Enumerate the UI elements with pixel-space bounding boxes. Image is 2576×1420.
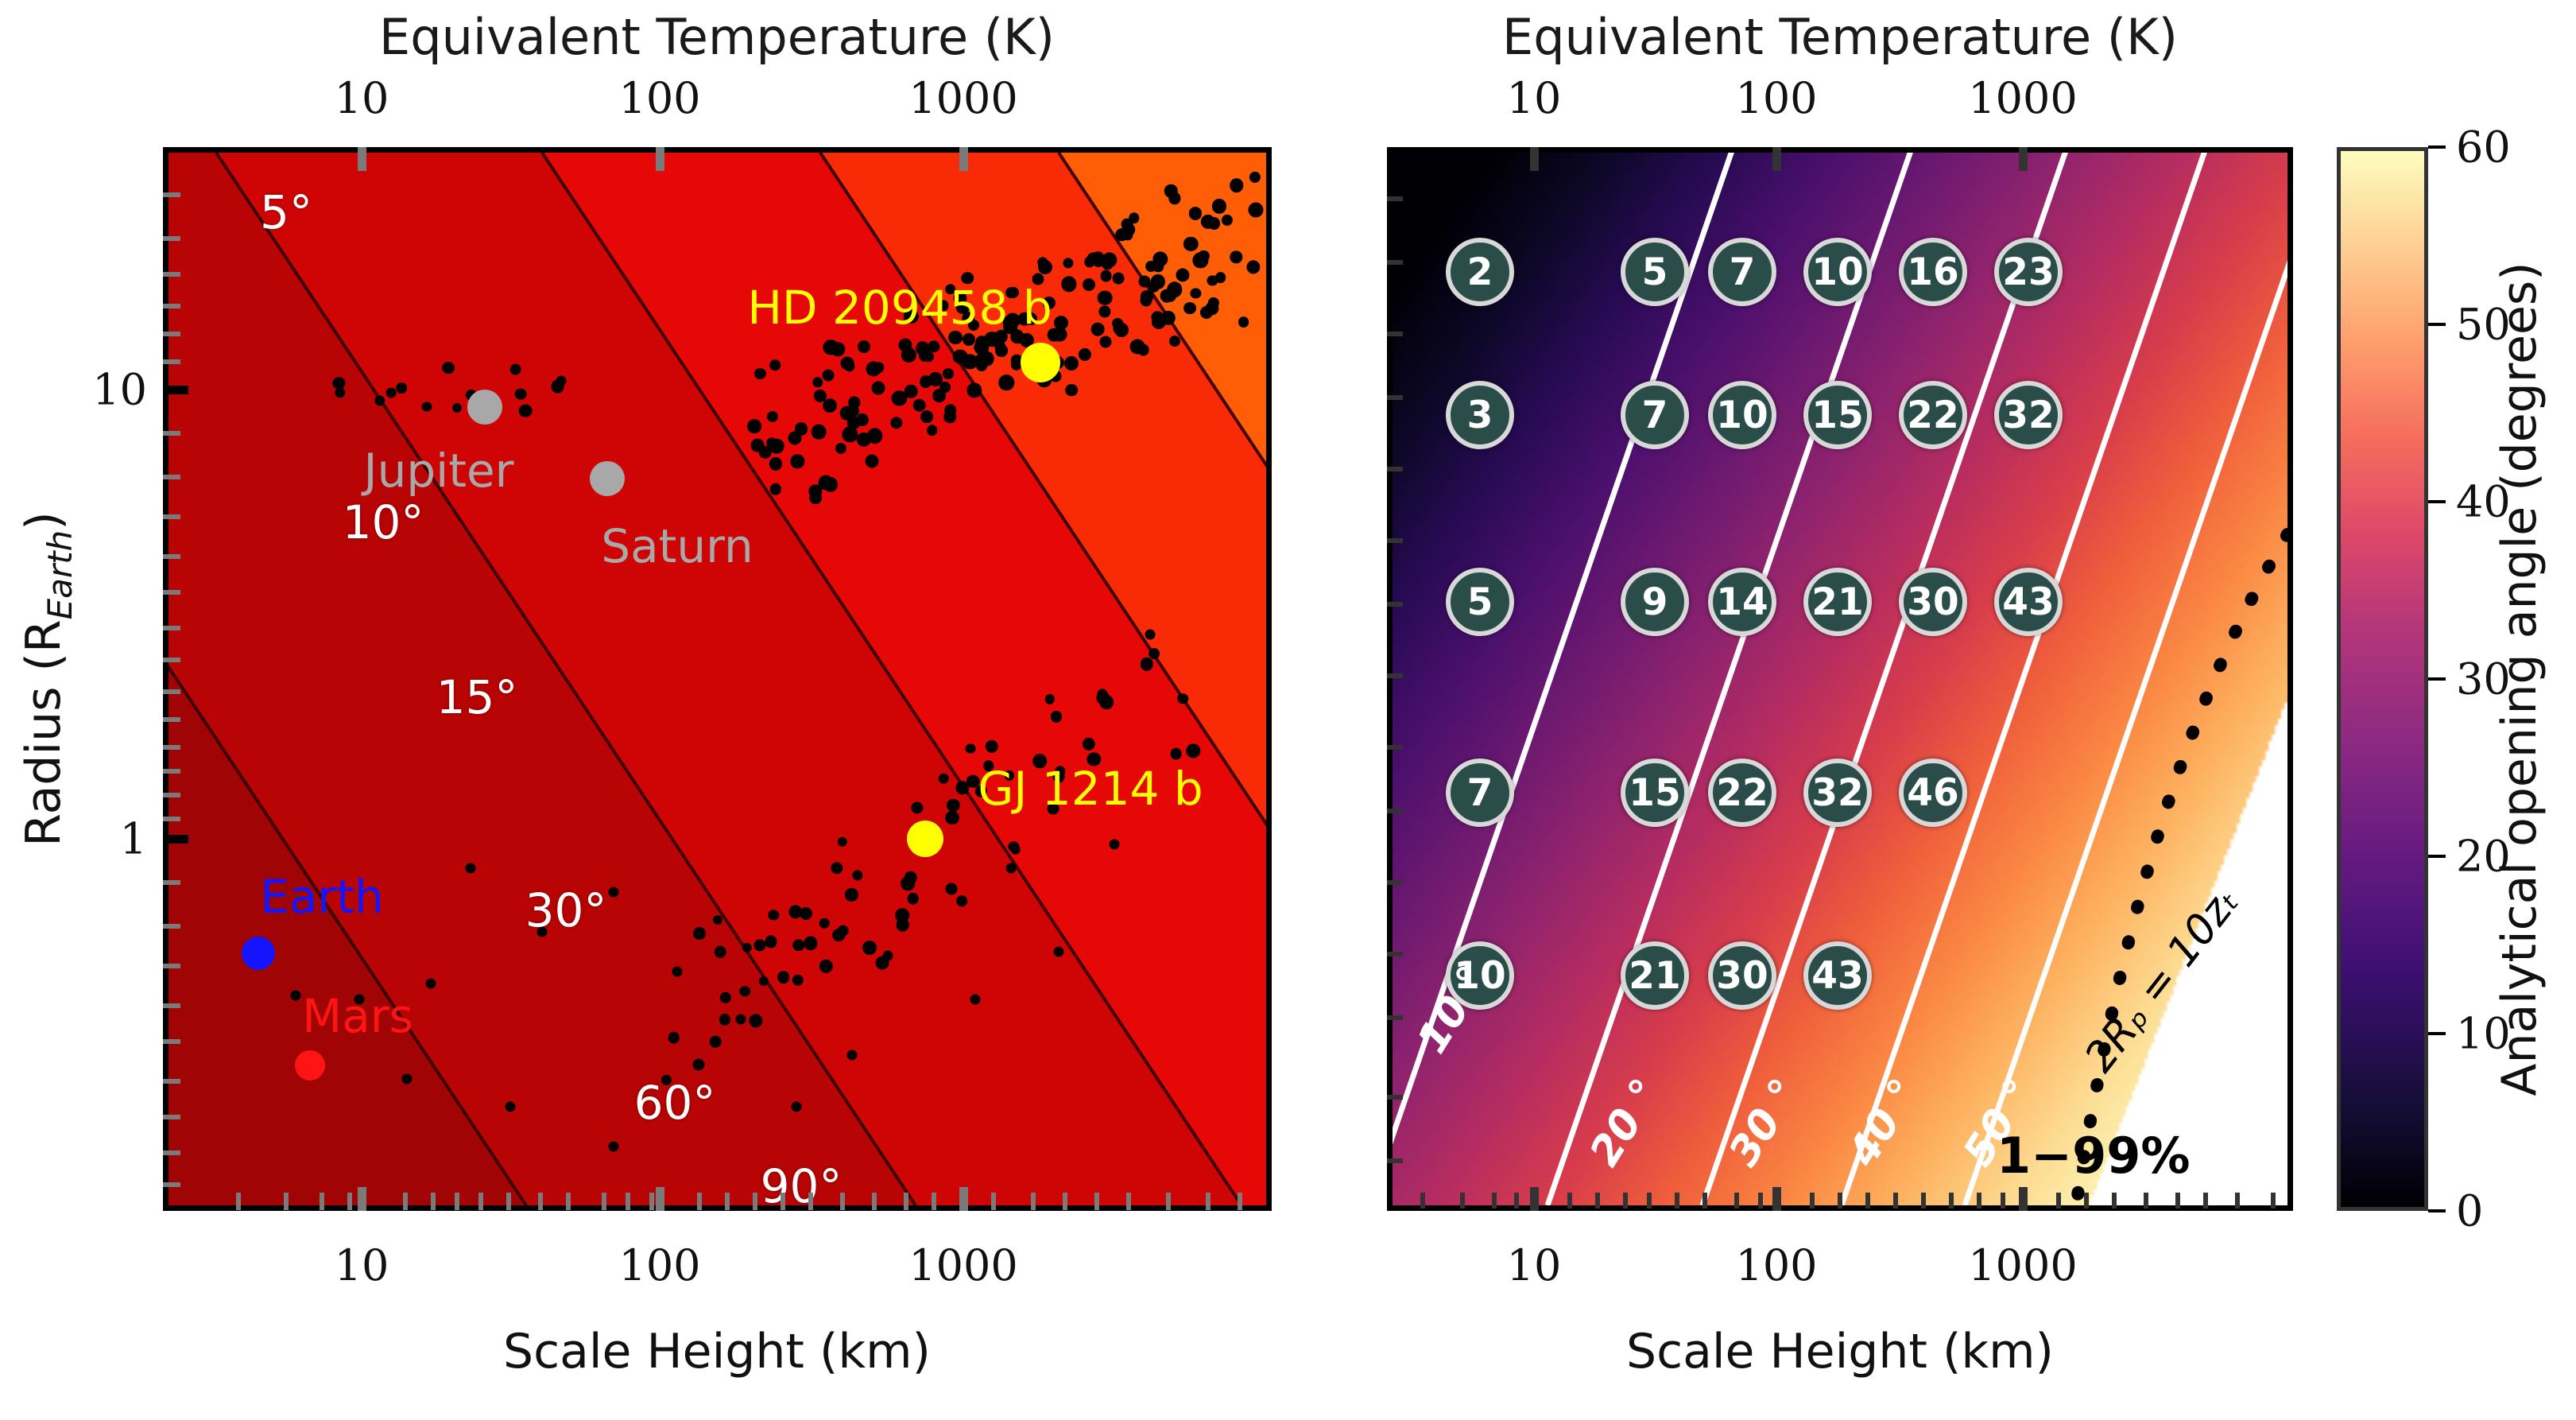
exoplanet-point xyxy=(769,910,779,920)
exoplanet-point xyxy=(740,986,751,997)
left-panel-top-axis-title: Equivalent Temperature (K) xyxy=(379,8,1055,66)
marker-jupiter xyxy=(467,390,502,425)
exoplanet-point xyxy=(986,740,998,753)
grid-value-circle: 5 xyxy=(1446,568,1514,636)
figure-root: Equivalent Temperature (K) Equivalent Te… xyxy=(0,0,2576,1420)
yaxis-minor-tick xyxy=(1387,952,1403,956)
yaxis-minor-tick xyxy=(1387,395,1403,400)
yaxis-minor-tick xyxy=(163,192,180,197)
grid-value-circle: 10 xyxy=(1803,238,1872,306)
xaxis-major-tick xyxy=(358,1187,366,1211)
label-jupiter: Jupiter xyxy=(363,444,513,498)
yaxis-minor-tick xyxy=(163,554,180,559)
exoplanet-point xyxy=(1098,305,1110,317)
left-plot-panel: 5° 10° 15° 30° 60° 90° HD 209458 b GJ 12… xyxy=(163,147,1272,1211)
exoplanet-point xyxy=(927,425,937,435)
grid-value-circle: 9 xyxy=(1621,568,1689,636)
grid-value-circles: 2571016233710152232591421304371522324610… xyxy=(1393,153,2287,1205)
xaxis-minor-tick xyxy=(566,1193,571,1210)
exoplanet-point xyxy=(1054,947,1064,957)
grid-value-circle: 21 xyxy=(1803,568,1872,636)
yaxis-minor-tick xyxy=(163,1182,180,1187)
right-bottom-tick-100: 100 xyxy=(1735,1240,1817,1290)
ylabel-subscript: Earth xyxy=(41,530,79,620)
exoplanet-point xyxy=(1249,172,1261,183)
colorbar-tick-label: 0 xyxy=(2456,1186,2483,1236)
contour-label-90deg: 90° xyxy=(761,1159,843,1211)
exoplanet-point xyxy=(831,862,843,874)
xaxis-minor-tick xyxy=(649,1193,654,1210)
left-bottom-tick-1000: 1000 xyxy=(908,1240,1017,1290)
xaxis-minor-tick xyxy=(808,1193,813,1210)
left-ytick-10: 10 xyxy=(92,365,147,415)
exoplanet-point xyxy=(907,893,919,905)
contour-label-5deg: 5° xyxy=(260,185,312,239)
yaxis-minor-tick xyxy=(1387,1095,1403,1100)
exoplanet-point xyxy=(1246,261,1260,274)
xaxis-minor-tick xyxy=(725,1193,730,1210)
exoplanet-point xyxy=(1083,278,1095,291)
colorbar-tickmark xyxy=(2428,677,2446,681)
exoplanet-point xyxy=(1212,199,1226,213)
exoplanet-point xyxy=(890,417,902,429)
yaxis-minor-tick xyxy=(1387,602,1403,607)
colorbar-tickmark xyxy=(2428,855,2446,858)
exoplanet-point xyxy=(791,455,804,468)
grid-value-circle: 2 xyxy=(1446,238,1514,306)
exoplanet-point xyxy=(823,370,835,382)
right-bottom-tick-10: 10 xyxy=(1507,1240,1562,1290)
xaxis-minor-tick xyxy=(1838,1193,1842,1209)
exoplanet-point xyxy=(852,870,862,880)
exoplanet-point xyxy=(1238,316,1249,328)
right-top-tick-1000: 1000 xyxy=(1968,73,2077,123)
grid-value-circle: 21 xyxy=(1621,941,1689,1010)
exoplanet-point xyxy=(1122,230,1133,240)
marker-earth xyxy=(242,937,275,970)
yaxis-minor-tick xyxy=(163,431,180,436)
exoplanet-point xyxy=(1083,737,1096,751)
xaxis-minor-tick xyxy=(2144,1193,2148,1209)
yaxis-minor-tick xyxy=(163,745,180,750)
yaxis-minor-tick xyxy=(163,1003,180,1008)
marker-saturn xyxy=(590,461,625,496)
yaxis-minor-tick xyxy=(1387,332,1403,336)
exoplanet-point xyxy=(466,863,476,874)
xaxis-minor-tick xyxy=(872,1193,877,1210)
exoplanet-point xyxy=(1189,207,1202,219)
label-earth: Earth xyxy=(260,870,384,924)
exoplanet-point xyxy=(823,398,837,413)
xaxis-minor-tick xyxy=(1420,1193,1425,1209)
exoplanet-point xyxy=(792,975,804,986)
exoplanet-point xyxy=(946,883,958,894)
yaxis-minor-tick xyxy=(163,964,180,968)
colorbar-tickmark xyxy=(2428,323,2446,326)
exoplanet-point xyxy=(1129,212,1140,223)
yaxis-minor-tick xyxy=(1387,260,1403,265)
exoplanet-point xyxy=(509,363,521,375)
xaxis-minor-tick xyxy=(1063,1193,1067,1210)
exoplanet-point xyxy=(1010,844,1021,855)
yaxis-minor-tick xyxy=(163,304,180,308)
xaxis-minor-tick xyxy=(1810,1193,1815,1209)
exoplanet-point xyxy=(1140,658,1152,670)
exoplanet-point xyxy=(759,976,769,985)
yaxis-minor-tick xyxy=(163,717,180,722)
xaxis-minor-tick xyxy=(347,1193,352,1210)
right-panel-xlabel: Scale Height (km) xyxy=(1626,1324,2054,1379)
yaxis-minor-tick xyxy=(163,769,180,774)
colorbar-label: Analytical opening angle (degrees) xyxy=(2492,262,2547,1096)
exoplanet-point xyxy=(609,1142,619,1152)
grid-value-circle: 30 xyxy=(1899,568,1967,636)
exoplanet-point xyxy=(396,382,407,394)
xaxis-minor-tick xyxy=(1702,1193,1707,1209)
yaxis-minor-tick xyxy=(163,590,180,595)
exoplanet-point xyxy=(742,943,752,952)
xaxis-major-tick xyxy=(656,147,664,171)
exoplanet-point xyxy=(946,811,960,825)
xaxis-minor-tick xyxy=(840,1193,845,1210)
exoplanet-point xyxy=(753,939,765,951)
exoplanet-point xyxy=(947,799,959,812)
xaxis-minor-tick xyxy=(991,1193,996,1210)
yaxis-minor-tick xyxy=(163,1079,180,1084)
yaxis-minor-tick xyxy=(163,1039,180,1044)
exoplanet-point xyxy=(812,377,823,387)
grid-value-circle: 7 xyxy=(1621,381,1689,449)
exoplanet-point xyxy=(845,888,858,901)
exoplanet-point xyxy=(291,991,301,1001)
xaxis-minor-tick xyxy=(1492,1193,1497,1209)
exoplanet-point xyxy=(710,1036,722,1048)
yaxis-major-tick xyxy=(163,835,188,844)
xaxis-major-tick xyxy=(2019,1187,2028,1211)
xaxis-minor-tick xyxy=(1893,1193,1898,1209)
percentile-note: 1−99% xyxy=(1997,1127,2191,1185)
yaxis-minor-tick xyxy=(1387,1158,1403,1163)
yaxis-minor-tick xyxy=(163,332,180,336)
xaxis-minor-tick xyxy=(1094,1193,1099,1210)
marker-gj1214b xyxy=(907,821,943,857)
exoplanet-point xyxy=(1170,748,1182,760)
exoplanet-point xyxy=(1079,348,1091,361)
exoplanet-point xyxy=(609,887,619,898)
exoplanet-point xyxy=(1066,384,1079,397)
right-plot-panel: 2571016233710152232591421304371522324610… xyxy=(1387,147,2293,1211)
xaxis-minor-tick xyxy=(1238,1193,1242,1210)
xaxis-minor-tick xyxy=(2175,1193,2180,1209)
exoplanet-point xyxy=(865,454,878,468)
exoplanet-point xyxy=(932,389,947,403)
exoplanet-point xyxy=(944,404,957,417)
left-bottom-tick-10: 10 xyxy=(335,1240,389,1290)
yaxis-minor-tick xyxy=(1387,1015,1403,1020)
grid-value-circle: 14 xyxy=(1708,568,1776,636)
right-panel-top-axis-title: Equivalent Temperature (K) xyxy=(1502,8,2178,66)
xaxis-major-tick xyxy=(1772,1187,1781,1211)
exoplanet-point xyxy=(1110,840,1120,850)
exoplanet-point xyxy=(843,427,858,442)
exoplanet-point xyxy=(770,483,781,495)
xaxis-minor-tick xyxy=(2112,1193,2117,1209)
exoplanet-point xyxy=(896,918,909,932)
exoplanet-point xyxy=(1102,252,1117,267)
grid-value-circle: 22 xyxy=(1899,381,1967,449)
exoplanet-point xyxy=(750,1015,763,1028)
grid-value-circle: 23 xyxy=(1994,238,2063,306)
colorbar-tickmark xyxy=(2428,145,2446,149)
xaxis-minor-tick xyxy=(320,1193,324,1210)
exoplanet-point xyxy=(965,743,975,754)
exoplanet-point xyxy=(1137,344,1149,356)
exoplanet-point xyxy=(1052,327,1067,342)
grid-value-circle: 7 xyxy=(1708,238,1776,306)
xaxis-minor-tick xyxy=(2271,1193,2276,1209)
yaxis-minor-tick xyxy=(163,1115,180,1119)
exoplanet-point xyxy=(672,967,683,977)
xaxis-minor-tick xyxy=(1758,1193,1763,1209)
exoplanet-point xyxy=(967,382,982,398)
exoplanet-point xyxy=(769,359,781,371)
xaxis-major-tick xyxy=(1530,1187,1539,1211)
label-gj1214b: GJ 1214 b xyxy=(978,762,1203,816)
exoplanet-point xyxy=(692,1058,704,1070)
yaxis-minor-tick xyxy=(163,658,180,662)
exoplanet-point xyxy=(1100,336,1112,348)
yaxis-minor-tick xyxy=(163,626,180,630)
yaxis-minor-tick xyxy=(163,514,180,519)
marker-mars xyxy=(295,1050,325,1081)
exoplanet-point xyxy=(693,927,706,940)
exoplanet-point xyxy=(1168,192,1180,204)
exoplanet-point xyxy=(883,951,893,961)
exoplanet-point xyxy=(1098,290,1113,305)
exoplanet-point xyxy=(838,836,847,846)
exoplanet-point xyxy=(970,995,981,1005)
xaxis-minor-tick xyxy=(2001,1193,2005,1209)
exoplanet-point xyxy=(1051,711,1062,722)
exoplanet-point xyxy=(856,413,869,426)
xaxis-minor-tick xyxy=(431,1193,436,1210)
xaxis-minor-tick xyxy=(1977,1193,1981,1209)
colorbar xyxy=(2337,147,2428,1211)
exoplanet-point xyxy=(867,428,883,444)
exoplanet-point xyxy=(402,1074,413,1084)
yaxis-minor-tick xyxy=(163,880,180,885)
exoplanet-point xyxy=(920,410,933,423)
exoplanet-point xyxy=(1100,270,1112,281)
yaxis-minor-tick xyxy=(163,359,180,364)
xaxis-minor-tick xyxy=(506,1193,511,1210)
exoplanet-point xyxy=(1183,302,1196,315)
xaxis-minor-tick xyxy=(1514,1193,1519,1209)
xaxis-minor-tick xyxy=(1647,1193,1652,1209)
exoplanet-point xyxy=(715,946,726,958)
exoplanet-point xyxy=(719,991,731,1003)
xaxis-minor-tick xyxy=(904,1193,908,1210)
exoplanet-point xyxy=(963,354,978,369)
xaxis-minor-tick xyxy=(1921,1193,1926,1209)
exoplanet-point xyxy=(999,375,1014,390)
exoplanet-point xyxy=(912,398,926,412)
xaxis-major-tick xyxy=(1772,147,1781,171)
exoplanet-point xyxy=(1145,629,1155,639)
exoplanet-point xyxy=(751,439,765,452)
grid-value-circle: 32 xyxy=(1803,758,1872,827)
xaxis-minor-tick xyxy=(1595,1193,1600,1209)
grid-value-circle: 3 xyxy=(1446,381,1514,449)
right-top-tick-100: 100 xyxy=(1735,73,1817,123)
label-hd209458b: HD 209458 b xyxy=(747,281,1052,335)
exoplanet-point xyxy=(939,774,949,784)
colorbar-tickmark xyxy=(2428,1032,2446,1035)
exoplanet-scatter xyxy=(169,153,1266,1205)
label-saturn: Saturn xyxy=(601,519,753,573)
contour-label-15deg: 15° xyxy=(436,670,518,724)
marker-hd209458b xyxy=(1021,343,1060,382)
exoplanet-point xyxy=(1063,258,1073,268)
xaxis-minor-tick xyxy=(1460,1193,1465,1209)
exoplanet-point xyxy=(1167,282,1183,298)
exoplanet-point xyxy=(719,1014,730,1025)
exoplanet-point xyxy=(712,915,722,925)
right-top-tick-10: 10 xyxy=(1507,73,1562,123)
exoplanet-point xyxy=(862,941,877,955)
exoplanet-point xyxy=(747,419,761,433)
exoplanet-point xyxy=(792,1102,802,1112)
exoplanet-point xyxy=(754,368,765,379)
exoplanet-point xyxy=(1191,288,1201,298)
xaxis-minor-tick xyxy=(602,1193,606,1210)
exoplanet-point xyxy=(872,382,885,395)
exoplanet-point xyxy=(847,1050,858,1061)
exoplanet-point xyxy=(1176,268,1189,281)
grid-value-circle: 30 xyxy=(1708,941,1776,1010)
yaxis-minor-tick xyxy=(163,236,180,241)
exoplanet-point xyxy=(1177,693,1188,704)
left-panel-ylabel: Radius (REarth) xyxy=(16,511,79,846)
xaxis-minor-tick xyxy=(1865,1193,1870,1209)
grid-value-circle: 10 xyxy=(1708,381,1776,449)
exoplanet-point xyxy=(736,1015,746,1025)
xaxis-minor-tick xyxy=(1623,1193,1628,1209)
exoplanet-point xyxy=(892,390,907,405)
yaxis-minor-tick xyxy=(163,793,180,797)
exoplanet-point xyxy=(812,425,827,440)
exoplanet-point xyxy=(956,896,967,907)
exoplanet-point xyxy=(858,340,870,353)
yaxis-minor-tick xyxy=(1387,745,1403,750)
xaxis-minor-tick xyxy=(478,1193,483,1210)
left-bottom-tick-100: 100 xyxy=(618,1240,700,1290)
yaxis-minor-tick xyxy=(1387,196,1403,201)
xaxis-minor-tick xyxy=(403,1193,408,1210)
xaxis-minor-tick xyxy=(2203,1193,2208,1209)
exoplanet-point xyxy=(955,781,969,794)
colorbar-tick-label: 60 xyxy=(2456,122,2511,173)
exoplanet-point xyxy=(1183,237,1198,251)
exoplanet-point xyxy=(1222,215,1233,226)
label-mars: Mars xyxy=(302,989,413,1043)
exoplanet-point xyxy=(506,1102,516,1112)
contour-label-60deg: 60° xyxy=(634,1076,716,1130)
yaxis-minor-tick xyxy=(163,272,180,277)
xaxis-minor-tick xyxy=(1949,1193,1954,1209)
exoplanet-point xyxy=(831,343,845,356)
exoplanet-point xyxy=(442,362,455,374)
xaxis-minor-tick xyxy=(2235,1193,2240,1209)
xaxis-minor-tick xyxy=(1031,1193,1036,1210)
exoplanet-point xyxy=(804,937,817,950)
yaxis-minor-tick xyxy=(163,475,180,479)
exoplanet-point xyxy=(426,979,436,989)
exoplanet-point xyxy=(919,349,932,362)
exoplanet-point xyxy=(912,802,924,814)
xaxis-major-tick xyxy=(959,147,968,171)
grid-value-circle: 15 xyxy=(1803,381,1872,449)
yaxis-minor-tick xyxy=(163,689,180,694)
exoplanet-point xyxy=(901,877,914,890)
xaxis-minor-tick xyxy=(236,1193,241,1210)
exoplanet-point xyxy=(765,936,777,948)
exoplanet-point xyxy=(769,457,781,470)
xaxis-minor-tick xyxy=(2084,1193,2089,1209)
exoplanet-point xyxy=(819,918,830,929)
left-ytick-1: 1 xyxy=(120,814,147,864)
exoplanet-point xyxy=(515,388,527,400)
xaxis-minor-tick xyxy=(753,1193,757,1210)
left-panel-xlabel: Scale Height (km) xyxy=(503,1324,931,1379)
exoplanet-point xyxy=(1045,694,1055,704)
xaxis-major-tick xyxy=(2019,147,2028,171)
exoplanet-point xyxy=(866,361,881,376)
grid-value-circle: 22 xyxy=(1708,758,1776,827)
exoplanet-point xyxy=(1006,863,1017,874)
exoplanet-point xyxy=(1187,744,1200,758)
exoplanet-point xyxy=(788,431,802,444)
yaxis-minor-tick xyxy=(163,924,180,929)
grid-value-circle: 16 xyxy=(1899,238,1967,306)
exoplanet-point xyxy=(835,443,846,454)
exoplanet-point xyxy=(1113,273,1125,285)
xaxis-minor-tick xyxy=(781,1193,785,1210)
yaxis-minor-tick xyxy=(163,817,180,821)
xaxis-major-tick xyxy=(358,147,366,171)
exoplanet-point xyxy=(832,929,845,942)
ylabel-main: Radius (R xyxy=(16,619,72,846)
exoplanet-point xyxy=(1169,336,1180,347)
xaxis-minor-tick xyxy=(1166,1193,1171,1210)
exoplanet-point xyxy=(1193,253,1208,268)
yaxis-major-tick xyxy=(163,386,188,394)
exoplanet-point xyxy=(375,396,385,406)
exoplanet-point xyxy=(1248,202,1263,217)
xaxis-major-tick xyxy=(959,1187,968,1211)
grid-value-circle: 43 xyxy=(1803,941,1872,1010)
xaxis-minor-tick xyxy=(1126,1193,1131,1210)
xaxis-minor-tick xyxy=(1206,1193,1211,1210)
yaxis-minor-tick xyxy=(1387,673,1403,678)
grid-value-circle: 43 xyxy=(1994,568,2063,636)
colorbar-tickmark xyxy=(2428,500,2446,503)
exoplanet-point xyxy=(1064,356,1079,371)
exoplanet-point xyxy=(1230,251,1242,263)
exoplanet-point xyxy=(943,368,954,379)
xaxis-minor-tick xyxy=(538,1193,543,1210)
yaxis-minor-tick xyxy=(1387,880,1403,885)
